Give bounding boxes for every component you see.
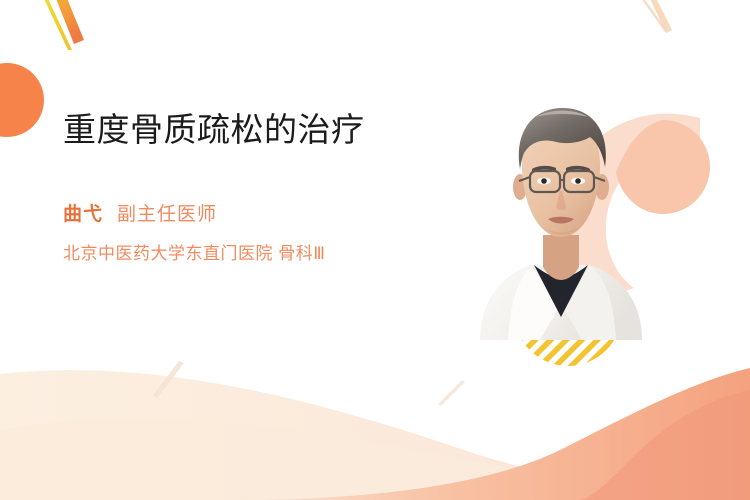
doctor-portrait-illustration — [470, 95, 650, 340]
diagonal-faint-stripe-right-2 — [648, 0, 672, 33]
diagonal-faint-stripe-bottom — [153, 361, 184, 398]
pale-wave — [0, 370, 750, 500]
doctor-rank: 副主任医师 — [117, 199, 217, 226]
diagonal-faint-stripe-right-1 — [638, 0, 668, 32]
pupil-left — [541, 178, 547, 184]
salmon-wave-accent — [578, 390, 750, 500]
doctor-portrait — [470, 95, 650, 340]
diagonal-faint-stripe-lower-right — [438, 380, 465, 406]
doctor-name: 曲弋 — [63, 199, 103, 226]
slide-text-content: 重度骨质疏松的治疗 曲弋 副主任医师 北京中医药大学东直门医院 骨科Ⅲ — [63, 108, 463, 264]
neck — [543, 235, 579, 280]
diagonal-orange-stripe — [51, 0, 84, 44]
pupil-right — [575, 178, 581, 184]
orange-circle — [0, 63, 44, 137]
doctor-affiliation: 北京中医药大学东直门医院 骨科Ⅲ — [63, 239, 463, 264]
presentation-slide: 重度骨质疏松的治疗 曲弋 副主任医师 北京中医药大学东直门医院 骨科Ⅲ — [0, 0, 750, 500]
pale-wave-secondary — [0, 419, 750, 500]
diagonal-yellow-stripe — [39, 0, 72, 50]
page-title: 重度骨质疏松的治疗 — [63, 108, 403, 151]
doctor-credential-line: 曲弋 副主任医师 — [63, 199, 463, 226]
salmon-wave — [240, 368, 750, 500]
